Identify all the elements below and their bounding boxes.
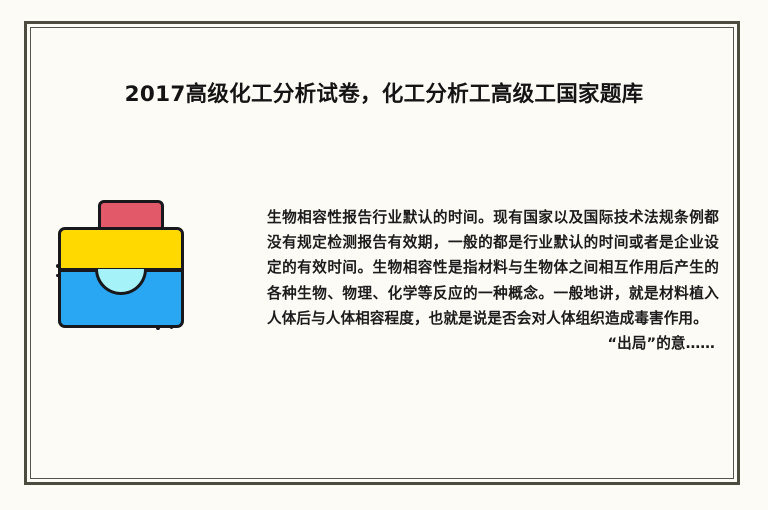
briefcase-dot-left-lower-icon <box>56 274 59 277</box>
briefcase-dot-bottom-right-icon <box>170 326 173 329</box>
briefcase-dot-left-upper-icon <box>56 264 60 268</box>
article-paragraph: 生物相容性报告行业默认的时间。现有国家以及国际技术法规条例都没有规定检测报告有效… <box>267 209 719 327</box>
briefcase-upper-band-icon <box>58 227 184 271</box>
article-ellipsis-tail: “出局”的意…… <box>267 331 719 356</box>
page-canvas: 2017高级化工分析试卷，化工分析工高级工国家题库 生物相容性报告行业默认的时间… <box>0 0 768 510</box>
article-body: 生物相容性报告行业默认的时间。现有国家以及国际技术法规条例都没有规定检测报告有效… <box>267 205 719 356</box>
page-title: 2017高级化工分析试卷，化工分析工高级工国家题库 <box>0 80 768 110</box>
briefcase-illustration <box>58 200 190 330</box>
briefcase-dot-bottom-left-icon <box>156 326 160 330</box>
